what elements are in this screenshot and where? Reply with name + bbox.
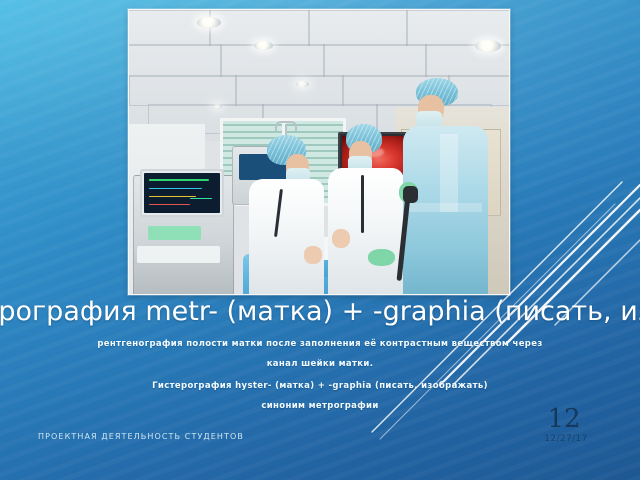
ceiling-tile <box>129 75 237 105</box>
gown-band <box>440 134 458 212</box>
monitor-screen <box>144 173 220 213</box>
gown-belt <box>407 203 482 212</box>
hand <box>332 229 350 248</box>
hand <box>304 246 322 263</box>
patient-monitor <box>140 169 224 217</box>
body-line: Гистерография hyster- (матка) + -graphia… <box>0 376 640 396</box>
ceiling-tile <box>308 10 409 46</box>
ceiling-tile <box>235 75 343 105</box>
ceiling-tile <box>220 44 325 77</box>
endoscope-handle <box>403 186 419 203</box>
ceiling-light-icon <box>213 104 222 109</box>
ceiling-tile <box>129 10 211 46</box>
body-line: рентгенография полости матки после запол… <box>0 334 640 354</box>
ceiling-tile <box>323 44 428 77</box>
white-coat <box>249 179 324 294</box>
presentation-slide: етрография metr- (матка) + -graphia (пис… <box>0 0 640 480</box>
body-line: канал шейки матки. <box>0 354 640 374</box>
monitor-indicator <box>148 226 201 240</box>
slide-body: рентгенография полости матки после запол… <box>0 334 640 416</box>
operating-room-scene <box>129 10 509 294</box>
surgical-glove <box>368 249 395 266</box>
ceiling-light-icon <box>475 40 501 52</box>
slide-title: етрография metr- (матка) + -graphia (пис… <box>0 296 640 327</box>
keyboard-tray <box>137 246 221 263</box>
stethoscope <box>361 175 364 233</box>
slide-date: 12/27/17 <box>526 434 606 444</box>
ceiling-tile <box>129 44 222 77</box>
slide-number: 12 <box>524 406 604 432</box>
slide-footer: ПРОЕКТНАЯ ДЕЯТЕЛЬНОСТЬ СТУДЕНТОВ <box>38 432 244 441</box>
surgeon-figure <box>403 78 502 294</box>
slide-photo <box>128 9 510 295</box>
